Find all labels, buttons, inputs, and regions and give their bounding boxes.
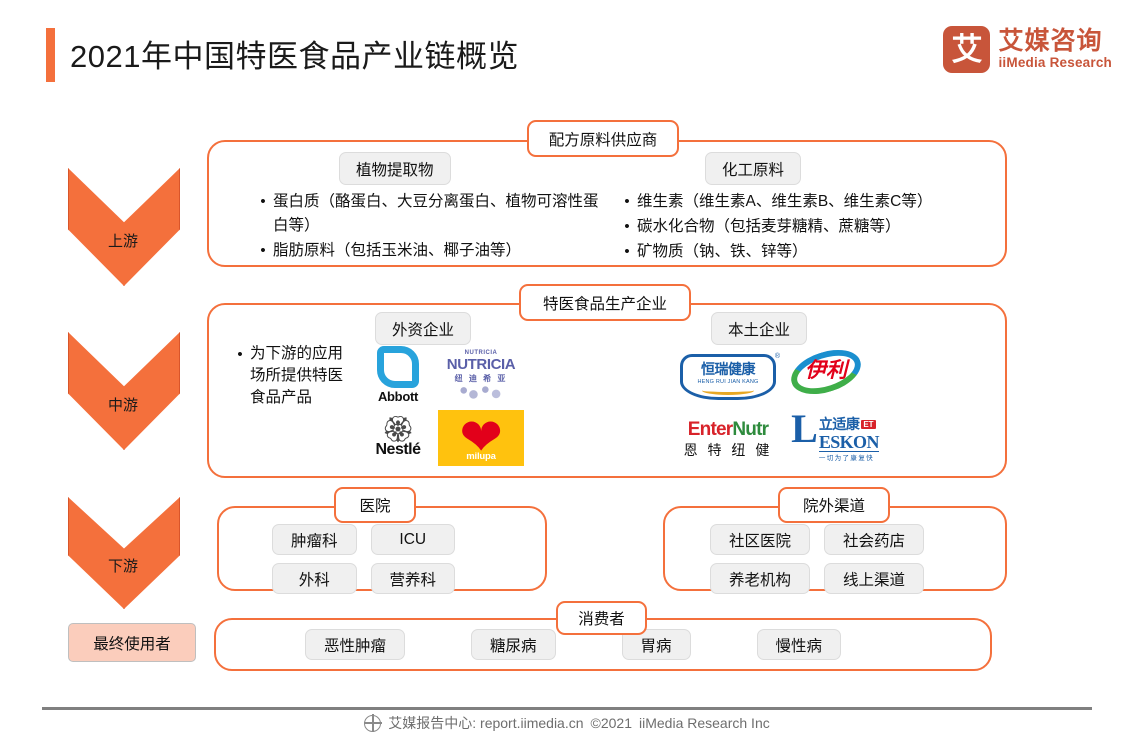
- leskon-tagline: 一切为了康复快: [819, 451, 879, 462]
- leskon-text-block: 立适康 ET ESKON 一切为了康复快: [819, 412, 879, 462]
- domestic-brand-grid: 恒瑞健康 HENG RUI JIAN KANG ® 伊利 EnterNutr 恩…: [672, 346, 880, 468]
- iimedia-logo: 艾 艾媒咨询 iiMedia Research: [943, 26, 1112, 73]
- leskon-name-cn: 立适康: [819, 414, 860, 434]
- logo-name-en: iiMedia Research: [998, 55, 1112, 71]
- hrjk-swoosh-icon: [702, 386, 754, 395]
- midstream-foreign-subhead: 外资企业: [375, 312, 471, 345]
- outside-channel-tile[interactable]: 线上渠道: [824, 563, 924, 594]
- yili-name-cn: 伊利: [790, 360, 862, 381]
- bullet-row: • 维生素（维生素A、维生素B、维生素C等）: [617, 190, 997, 214]
- end-user-label: 最终使用者: [68, 623, 196, 662]
- bullet-dot-icon: •: [617, 215, 637, 238]
- hrjk-name-cn: 恒瑞健康: [701, 359, 755, 379]
- chevron-down-icon: [68, 332, 180, 450]
- bird-nest-icon: 🏵: [381, 417, 414, 442]
- chevron-down-icon: [68, 168, 180, 286]
- footer-source: 艾媒报告中心: report.iimedia.cn: [388, 713, 583, 733]
- outside-channel-tile[interactable]: 社区医院: [710, 524, 810, 555]
- midstream-bullets: • 为下游的应用场所提供特医食品产品: [230, 343, 345, 410]
- footer: 艾媒报告中心: report.iimedia.cn ©2021 iiMedia …: [0, 713, 1134, 733]
- heart-icon: ❤ milupa: [453, 412, 509, 464]
- hospital-tile[interactable]: 营养科: [371, 563, 456, 594]
- bullet-row: • 脂肪原料（包括玉米油、椰子油等）: [253, 239, 601, 263]
- hrjk-shield-icon: 恒瑞健康 HENG RUI JIAN KANG ®: [680, 354, 776, 400]
- footer-copyright: ©2021: [591, 715, 632, 731]
- yili-logo: 伊利: [790, 346, 864, 398]
- consumer-tile[interactable]: 糖尿病: [471, 629, 556, 660]
- leskon-badge: ET: [861, 420, 875, 429]
- bullet-dot-icon: •: [253, 239, 273, 262]
- outside-channel-tile[interactable]: 养老机构: [710, 563, 810, 594]
- bullet-text: 脂肪原料（包括玉米油、椰子油等）: [273, 239, 601, 263]
- bullet-row: • 为下游的应用场所提供特医食品产品: [230, 343, 345, 409]
- stage-arrow-label: 中游: [68, 394, 178, 415]
- upstream-left-subhead: 植物提取物: [339, 152, 451, 185]
- title-accent-bar: [46, 28, 55, 82]
- logo-mark-icon: 艾: [943, 26, 990, 73]
- chevron-down-icon: [68, 497, 180, 609]
- outside-channel-tile[interactable]: 社会药店: [824, 524, 924, 555]
- stage-arrow-label: 上游: [68, 230, 178, 251]
- bullet-row: • 碳水化合物（包括麦芽糖精、蔗糖等）: [617, 215, 997, 239]
- nestle-logo: 🏵 Nestlé: [362, 410, 434, 466]
- bullet-text: 维生素（维生素A、维生素B、维生素C等）: [637, 190, 997, 214]
- bullet-dot-icon: •: [617, 190, 637, 213]
- leskon-logo: L 立适康 ET ESKON 一切为了康复快: [790, 412, 880, 468]
- abbott-wordmark: Abbott: [378, 389, 418, 404]
- nutricia-name-cn: 纽 迪 希 亚: [455, 373, 508, 384]
- consumer-tile[interactable]: 慢性病: [757, 629, 842, 660]
- leskon-top-row: 立适康 ET: [819, 414, 879, 434]
- hospital-tile[interactable]: ICU: [371, 524, 456, 555]
- foreign-brand-grid: Abbott NUTRICIA NUTRICIA 纽 迪 希 亚 🏵 Nestl…: [362, 344, 524, 466]
- upstream-right-subhead: 化工原料: [705, 152, 801, 185]
- leskon-name-en: ESKON: [819, 434, 879, 451]
- globe-map-icon: [454, 384, 508, 400]
- upstream-left-bullets: • 蛋白质（酪蛋白、大豆分离蛋白、植物可溶性蛋白等） • 脂肪原料（包括玉米油、…: [253, 190, 601, 264]
- bullet-text: 碳水化合物（包括麦芽糖精、蔗糖等）: [637, 215, 997, 239]
- enternutr-nutr-text: Nutr: [732, 419, 768, 440]
- milupa-logo: ❤ milupa: [438, 410, 524, 466]
- enternutr-name-cn: 恩 特 纽 健: [684, 440, 773, 460]
- bullet-dot-icon: •: [617, 240, 637, 263]
- milupa-wordmark: milupa: [453, 431, 509, 466]
- bullet-dot-icon: •: [230, 343, 250, 366]
- upstream-header-label: 配方原料供应商: [527, 120, 679, 157]
- hrjk-registered-icon: ®: [775, 353, 780, 360]
- globe-icon: [364, 715, 381, 732]
- page-title: 2021年中国特医食品产业链概览: [70, 31, 519, 76]
- bullet-row: • 蛋白质（酪蛋白、大豆分离蛋白、植物可溶性蛋白等）: [253, 190, 601, 238]
- hengruijiankang-logo: 恒瑞健康 HENG RUI JIAN KANG ®: [672, 346, 784, 408]
- stage-arrow-midstream: 中游: [68, 332, 178, 448]
- stage-arrow-label: 下游: [68, 555, 178, 576]
- stage-arrow-downstream: 下游: [68, 497, 178, 607]
- nestle-wordmark: Nestlé: [375, 441, 420, 459]
- bullet-row: • 矿物质（钠、铁、锌等）: [617, 240, 997, 264]
- bullet-text: 蛋白质（酪蛋白、大豆分离蛋白、植物可溶性蛋白等）: [273, 190, 601, 238]
- midstream-domestic-subhead: 本土企业: [711, 312, 807, 345]
- logo-text: 艾媒咨询 iiMedia Research: [998, 28, 1112, 72]
- enternutr-enter-text: Enter: [688, 419, 733, 440]
- outside-channel-tile-grid: 社区医院 社会药店 养老机构 线上渠道: [710, 524, 924, 594]
- outside-channel-header-label: 院外渠道: [778, 487, 890, 523]
- consumer-header-label: 消费者: [556, 601, 647, 635]
- abbott-logo: Abbott: [362, 344, 434, 406]
- bullet-dot-icon: •: [253, 190, 273, 213]
- footer-divider: [42, 707, 1092, 710]
- nutricia-wordmark: NUTRICIA: [447, 356, 515, 373]
- bullet-text: 为下游的应用场所提供特医食品产品: [250, 343, 345, 409]
- hospital-tile[interactable]: 外科: [272, 563, 357, 594]
- logo-name-cn: 艾媒咨询: [998, 28, 1112, 56]
- hrjk-name-en: HENG RUI JIAN KANG: [697, 379, 758, 385]
- consumer-tile[interactable]: 恶性肿瘤: [305, 629, 405, 660]
- hospital-header-label: 医院: [334, 487, 416, 523]
- bullet-text: 矿物质（钠、铁、锌等）: [637, 240, 997, 264]
- hospital-tile-grid: 肿瘤科 ICU 外科 营养科: [272, 524, 455, 594]
- infographic-page: 2021年中国特医食品产业链概览 艾 艾媒咨询 iiMedia Research…: [0, 0, 1134, 737]
- enternutr-logo: EnterNutr 恩 特 纽 健: [672, 412, 784, 468]
- nutricia-logo: NUTRICIA NUTRICIA 纽 迪 希 亚: [438, 344, 524, 406]
- abbott-mark-icon: [377, 346, 419, 388]
- enternutr-wordmark: EnterNutr: [688, 420, 768, 439]
- leskon-initial: L: [791, 412, 818, 446]
- midstream-header-label: 特医食品生产企业: [519, 284, 691, 321]
- stage-arrow-upstream: 上游: [68, 168, 178, 284]
- upstream-right-bullets: • 维生素（维生素A、维生素B、维生素C等） • 碳水化合物（包括麦芽糖精、蔗糖…: [617, 190, 997, 265]
- hospital-tile[interactable]: 肿瘤科: [272, 524, 357, 555]
- footer-org: iiMedia Research Inc: [639, 715, 770, 731]
